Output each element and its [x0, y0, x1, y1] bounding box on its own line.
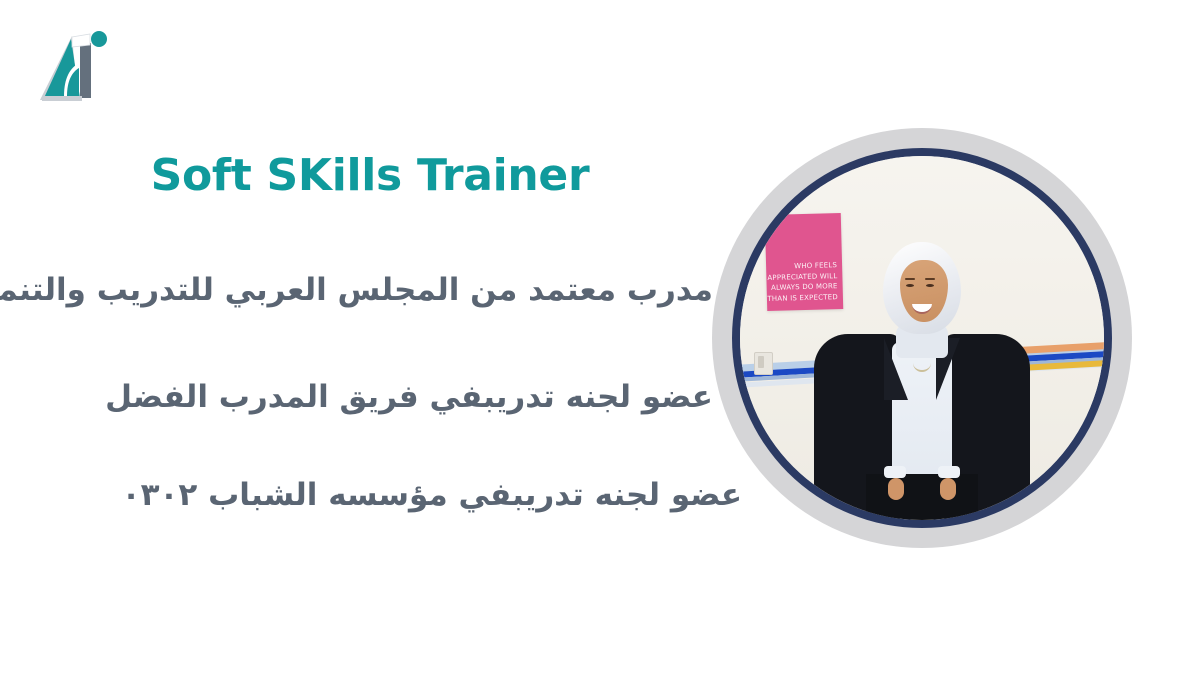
person-figure	[740, 156, 1104, 520]
academy-logo	[34, 26, 110, 108]
logo-mark-icon	[34, 26, 110, 108]
eye-left	[906, 284, 914, 287]
hand-right	[940, 478, 956, 500]
trainer-portrait: WHO FEELS APPRECIATED WILL ALWAYS DO MOR…	[712, 128, 1132, 548]
portrait-photo: WHO FEELS APPRECIATED WILL ALWAYS DO MOR…	[740, 156, 1104, 520]
credential-line-committee-member-youth-2030: عضو لجنه تدريبفي مؤسسه الشباب ٢٠٣٠	[0, 475, 742, 517]
hand-left	[888, 478, 904, 500]
credential-line-certified-trainer: مدرب معتمد من المجلس العربي للتدريب والت…	[0, 270, 713, 312]
portrait-inner-ring: WHO FEELS APPRECIATED WILL ALWAYS DO MOR…	[732, 148, 1112, 528]
trousers	[866, 474, 978, 520]
credential-line-committee-member-best-trainer: عضو لجنه تدريبفي فريق المدرب الفضل	[0, 377, 713, 419]
eyebrow-right	[925, 278, 935, 280]
portrait-photo-content: WHO FEELS APPRECIATED WILL ALWAYS DO MOR…	[740, 156, 1104, 520]
eyebrow-left	[905, 278, 915, 280]
page-title: Soft SKills Trainer	[0, 152, 740, 200]
slide-canvas: Soft SKills Trainer مدرب معتمد من المجلس…	[0, 0, 1200, 675]
shirt-cuff-right	[938, 466, 960, 478]
shirt-cuff-left	[884, 466, 906, 478]
eye-right	[926, 284, 934, 287]
